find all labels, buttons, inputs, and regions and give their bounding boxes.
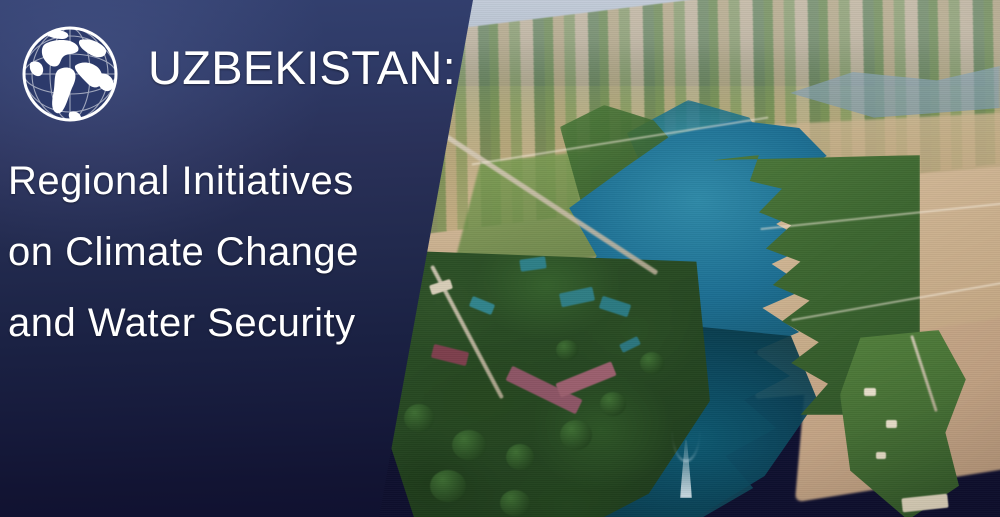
subtitle-block: Regional Initiatives on Climate Change a…: [8, 146, 428, 359]
tree: [404, 404, 434, 432]
subtitle-line-3: and Water Security: [8, 288, 428, 359]
uzbekistan-banner: UZBEKISTAN: Regional Initiatives on Clim…: [0, 0, 1000, 517]
tree: [500, 490, 530, 516]
globe-icon: [14, 18, 126, 130]
building-roof: [886, 420, 897, 428]
subtitle-line-1: Regional Initiatives: [8, 146, 428, 217]
page-title: UZBEKISTAN:: [148, 44, 456, 91]
tree: [600, 392, 626, 416]
building-roof: [876, 452, 886, 459]
tree: [560, 420, 592, 450]
tree: [506, 444, 534, 470]
building-roof: [864, 388, 876, 396]
tree: [430, 470, 466, 502]
tree: [556, 340, 578, 360]
subtitle-line-2: on Climate Change: [8, 217, 428, 288]
tree: [452, 430, 486, 460]
tree: [640, 352, 664, 374]
